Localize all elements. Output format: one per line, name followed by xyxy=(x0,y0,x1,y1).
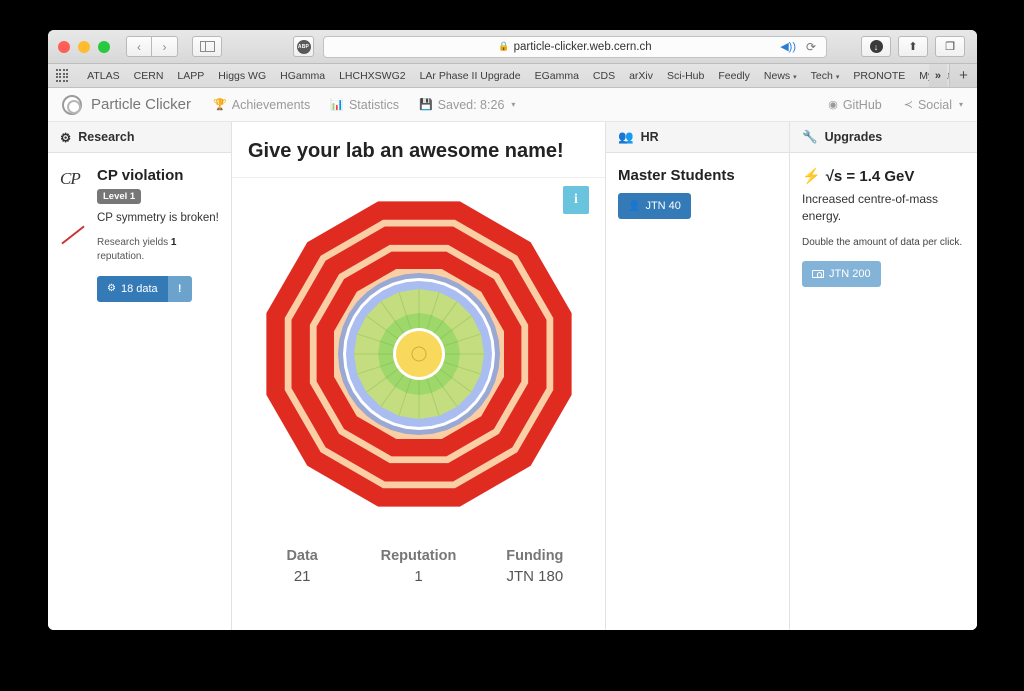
hr-panel-title: HR xyxy=(641,130,659,144)
bookmark-label: LAPP xyxy=(177,70,204,82)
bookmark-egamma[interactable]: EGamma xyxy=(528,70,586,82)
bookmark-label: HGamma xyxy=(280,70,325,82)
research-buy-label: 18 data xyxy=(121,283,158,295)
show-tabs-button[interactable]: ❐ xyxy=(935,36,965,57)
chevron-right-icon: › xyxy=(163,40,167,54)
yield-suffix: reputation. xyxy=(97,251,144,262)
nav-label: Social xyxy=(918,98,952,112)
navigation-buttons: ‹ › xyxy=(126,36,178,57)
research-item-yield: Research yields 1 reputation. xyxy=(97,236,219,265)
research-button-group: ⚙ 18 data ! xyxy=(97,276,192,302)
detector-ring-beam-pipe xyxy=(396,331,442,377)
brand-label: Particle Clicker xyxy=(91,96,191,113)
browser-window: ‹ › ABP 🔒 particle-clicker.web.cern.ch ◀… xyxy=(48,30,977,630)
research-panel-title: Research xyxy=(78,130,134,144)
upgrades-panel: 🔧 Upgrades ⚡ √s = 1.4 GeV Increased cent… xyxy=(790,122,977,630)
upgrade-item-title: ⚡ √s = 1.4 GeV xyxy=(802,167,965,185)
share-icon: ⬆ xyxy=(908,40,917,53)
stat-label: Data xyxy=(244,548,360,564)
floppy-disk-icon: 💾 xyxy=(419,98,433,111)
bookmark-tech[interactable]: Tech▾ xyxy=(804,70,847,82)
address-bar[interactable]: 🔒 particle-clicker.web.cern.ch ◀)) ⟳ xyxy=(323,36,827,58)
money-icon xyxy=(812,270,824,278)
chevron-down-icon: ▾ xyxy=(511,100,515,109)
maximize-window-button[interactable] xyxy=(98,41,110,53)
bookmark-label: PRONOTE xyxy=(853,70,905,82)
nav-social[interactable]: ≺ Social ▾ xyxy=(904,98,963,112)
bookmark-arxiv[interactable]: arXiv xyxy=(622,70,660,82)
bookmark-feedly[interactable]: Feedly xyxy=(711,70,757,82)
gears-icon: ⚙ xyxy=(60,130,71,145)
gears-icon: ⚙ xyxy=(107,283,116,294)
lock-icon: 🔒 xyxy=(498,41,509,52)
stat-label: Reputation xyxy=(360,548,476,564)
bookmark-atlas[interactable]: ATLAS xyxy=(80,70,126,82)
research-panel: ⚙ Research CP CP violation Level 1 CP sy… xyxy=(48,122,232,630)
tabs-icon: ❐ xyxy=(945,40,955,53)
stat-funding: Funding JTN 180 xyxy=(477,548,593,585)
add-bookmark-button[interactable]: + xyxy=(949,64,977,87)
bar-chart-icon: 📊 xyxy=(330,98,344,111)
abp-icon: ABP xyxy=(297,40,311,54)
lab-name-title[interactable]: Give your lab an awesome name! xyxy=(232,122,605,178)
app-navbar: Particle Clicker 🏆 Achievements 📊 Statis… xyxy=(48,88,977,122)
chevron-down-icon: ▾ xyxy=(793,74,797,81)
nav-label: Achievements xyxy=(232,98,311,112)
stat-label: Funding xyxy=(477,548,593,564)
strike-through xyxy=(61,226,84,245)
upgrades-panel-body: ⚡ √s = 1.4 GeV Increased centre-of-mass … xyxy=(790,153,977,301)
stat-reputation: Reputation 1 xyxy=(360,548,476,585)
stat-value: 1 xyxy=(360,568,476,585)
share-nodes-icon: ≺ xyxy=(904,98,913,111)
chevron-left-icon: ‹ xyxy=(137,40,141,54)
nav-label: Statistics xyxy=(349,98,399,112)
nav-achievements[interactable]: 🏆 Achievements xyxy=(213,98,310,112)
bookmark-sci-hub[interactable]: Sci-Hub xyxy=(660,70,711,82)
bookmark-label: Tech xyxy=(811,70,833,82)
page-content: ⚙ Research CP CP violation Level 1 CP sy… xyxy=(48,122,977,630)
buy-upgrade-button[interactable]: JTN 200 xyxy=(802,261,881,287)
yield-prefix: Research yields xyxy=(97,237,171,248)
nav-label: Saved: 8:26 xyxy=(438,98,505,112)
hr-panel-header: 👥 HR xyxy=(606,122,789,153)
close-window-button[interactable] xyxy=(58,41,70,53)
bookmark-label: Feedly xyxy=(718,70,750,82)
cp-icon-text: CP xyxy=(60,169,80,188)
bookmark-label: Higgs WG xyxy=(218,70,266,82)
brand-link[interactable]: Particle Clicker xyxy=(62,95,191,115)
bookmark-lar-phase-ii-upgrade[interactable]: LAr Phase II Upgrade xyxy=(413,70,528,82)
upgrades-panel-header: 🔧 Upgrades xyxy=(790,122,977,153)
person-icon: 👤 xyxy=(628,201,640,212)
nav-github[interactable]: ◉ GitHub xyxy=(828,98,882,112)
research-item-name: CP violation xyxy=(97,167,219,184)
sidebar-toggle-button[interactable] xyxy=(192,36,222,57)
reload-icon[interactable]: ⟳ xyxy=(806,40,816,54)
bookmark-cds[interactable]: CDS xyxy=(586,70,622,82)
hr-panel: 👥 HR Master Students 👤 JTN 40 xyxy=(606,122,790,630)
bookmarks-bar: ATLAS CERN LAPP Higgs WG HGamma LHCHXSWG… xyxy=(48,64,977,88)
research-panel-header: ⚙ Research xyxy=(48,122,231,153)
stat-value: JTN 180 xyxy=(477,568,593,585)
research-buy-button[interactable]: ⚙ 18 data xyxy=(97,276,168,302)
bookmark-label: CDS xyxy=(593,70,615,82)
sidebar-icon xyxy=(200,41,215,52)
download-icon: ↓ xyxy=(870,40,883,53)
hire-master-students-button[interactable]: 👤 JTN 40 xyxy=(618,193,691,219)
hire-button-label: JTN 40 xyxy=(645,200,680,212)
upgrade-title-label: √s = 1.4 GeV xyxy=(826,168,915,185)
github-icon: ◉ xyxy=(828,98,838,111)
bookmark-hgamma[interactable]: HGamma xyxy=(273,70,332,82)
bookmark-label: LHCHXSWG2 xyxy=(339,70,406,82)
nav-statistics[interactable]: 📊 Statistics xyxy=(330,98,399,112)
bookmark-cern[interactable]: CERN xyxy=(127,70,171,82)
particle-clicker-logo-icon xyxy=(62,95,82,115)
research-info-button[interactable]: ! xyxy=(168,276,192,302)
hr-panel-body: Master Students 👤 JTN 40 xyxy=(606,153,789,233)
bookmark-label: EGamma xyxy=(535,70,579,82)
upgrade-effect: Double the amount of data per click. xyxy=(802,236,965,251)
bookmark-label: News xyxy=(764,70,790,82)
people-icon: 👥 xyxy=(618,130,634,145)
bookmark-lapp[interactable]: LAPP xyxy=(170,70,211,82)
window-traffic-lights xyxy=(58,41,110,53)
nav-saved[interactable]: 💾 Saved: 8:26 ▾ xyxy=(419,98,515,112)
app-navbar-right: ◉ GitHub ≺ Social ▾ xyxy=(806,98,963,112)
url-text: particle-clicker.web.cern.ch xyxy=(514,41,652,53)
adblock-plus-button[interactable]: ABP xyxy=(293,36,314,57)
bookmark-news[interactable]: News▾ xyxy=(757,70,804,82)
bookmark-higgs-wg[interactable]: Higgs WG xyxy=(211,70,273,82)
forward-button[interactable]: › xyxy=(152,36,178,57)
chevron-down-icon: ▾ xyxy=(836,74,840,81)
bookmark-lhchxswg2[interactable]: LHCHXSWG2 xyxy=(332,70,413,82)
bookmark-label: arXiv xyxy=(629,70,653,82)
bookmark-label: Sci-Hub xyxy=(667,70,704,82)
browser-toolbar: ‹ › ABP 🔒 particle-clicker.web.cern.ch ◀… xyxy=(48,30,977,64)
research-level-badge: Level 1 xyxy=(97,189,141,204)
share-button[interactable]: ⬆ xyxy=(898,36,928,57)
yield-value: 1 xyxy=(171,237,177,248)
bookmark-label: ATLAS xyxy=(87,70,119,82)
stat-value: 21 xyxy=(244,568,360,585)
bolt-icon: ⚡ xyxy=(802,167,821,185)
upgrades-panel-title: Upgrades xyxy=(825,130,883,144)
apps-grid-icon[interactable] xyxy=(56,69,68,81)
stat-data: Data 21 xyxy=(244,548,360,585)
detector-stage[interactable]: i xyxy=(232,178,605,548)
buy-upgrade-label: JTN 200 xyxy=(829,268,871,280)
wrench-icon: 🔧 xyxy=(802,130,818,145)
chevron-down-icon: ▾ xyxy=(959,100,963,109)
detector-cross-section[interactable] xyxy=(249,184,589,524)
upgrade-description: Increased centre-of-mass energy. xyxy=(802,191,965,225)
bookmark-label: CERN xyxy=(134,70,164,82)
hr-item-name: Master Students xyxy=(618,167,777,184)
bookmark-pronote[interactable]: PRONOTE xyxy=(846,70,912,82)
cp-violation-icon: CP xyxy=(60,167,88,302)
bookmarks-overflow-button[interactable]: » xyxy=(929,64,947,87)
research-panel-body: CP CP violation Level 1 CP symmetry is b… xyxy=(48,153,231,316)
back-button[interactable]: ‹ xyxy=(126,36,152,57)
research-item-cp-violation[interactable]: CP CP violation Level 1 CP symmetry is b… xyxy=(60,167,219,302)
downloads-button[interactable]: ↓ xyxy=(861,36,891,57)
research-item-description: CP symmetry is broken! xyxy=(97,211,219,227)
bookmark-label: LAr Phase II Upgrade xyxy=(420,70,521,82)
lab-stats: Data 21 Reputation 1 Funding JTN 180 xyxy=(232,548,605,585)
trophy-icon: 🏆 xyxy=(213,98,227,111)
nav-label: GitHub xyxy=(843,98,882,112)
toolbar-right-buttons: ↓ ⬆ ❐ xyxy=(861,36,965,57)
minimize-window-button[interactable] xyxy=(78,41,90,53)
audio-icon[interactable]: ◀)) xyxy=(780,40,796,53)
lab-panel: Give your lab an awesome name! i Data 21… xyxy=(232,122,606,630)
